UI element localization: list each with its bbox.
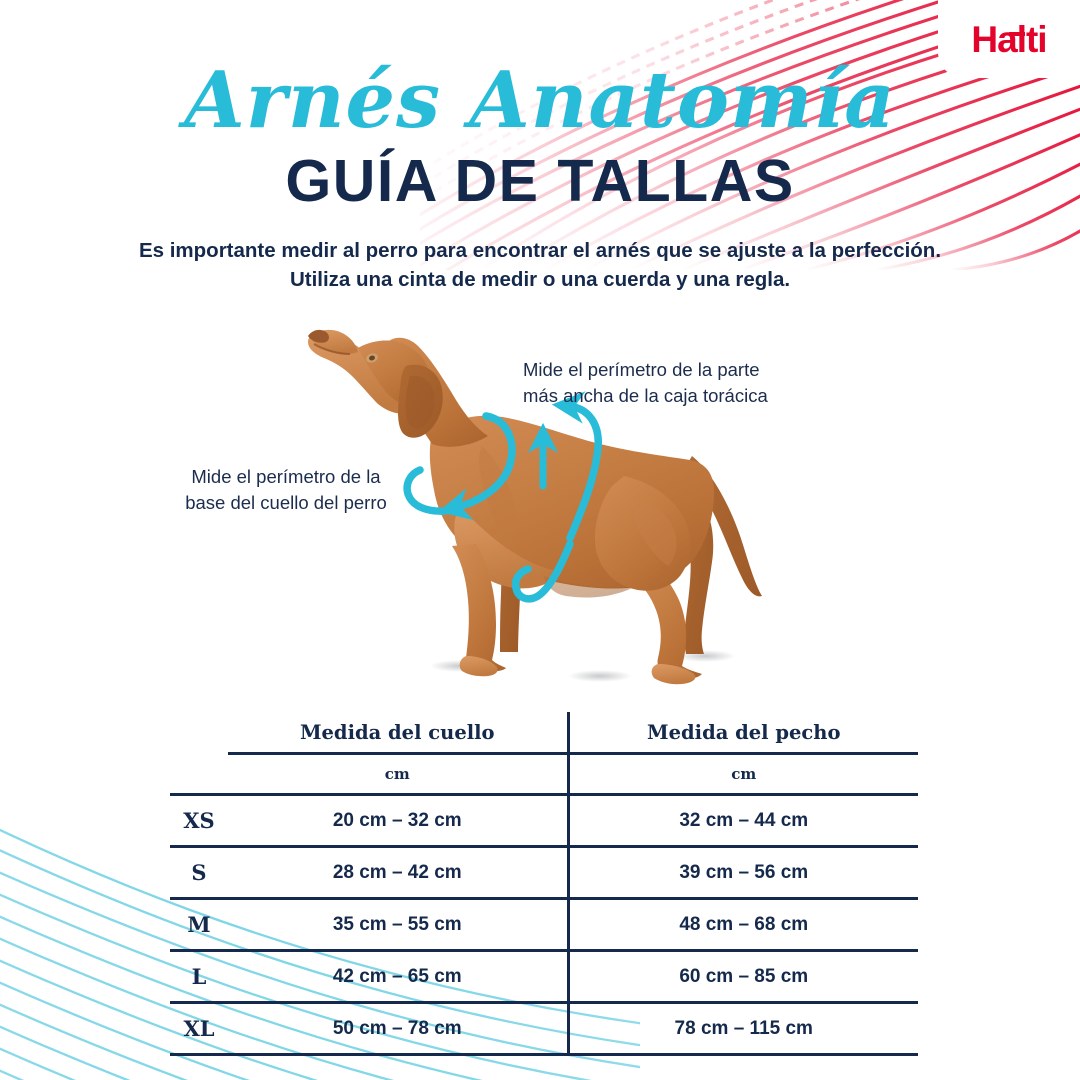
table-group-header-row: Medida del cuello Medida del pecho: [170, 712, 918, 754]
size-chart-table: Medida del cuello Medida del pecho cm cm…: [170, 712, 918, 1056]
unit-header-chest: cm: [568, 754, 918, 795]
halti-t-crossbar: [1009, 32, 1025, 36]
annotation-chest-line-1: Mide el perímetro de la parte: [523, 357, 813, 383]
subtitle: Es importante medir al perro para encont…: [90, 236, 990, 294]
page-title: GUÍA DE TALLAS: [0, 152, 1080, 211]
table-row: XL 50 cm – 78 cm 78 cm – 115 cm: [170, 1003, 918, 1055]
cell-neck: 35 cm – 55 cm: [228, 899, 568, 951]
unit-header-blank: [170, 754, 228, 795]
cell-size: M: [170, 899, 228, 951]
cell-neck: 28 cm – 42 cm: [228, 847, 568, 899]
unit-header-neck: cm: [228, 754, 568, 795]
table-unit-header-row: cm cm: [170, 754, 918, 795]
annotation-chest: Mide el perímetro de la parte más ancha …: [523, 357, 813, 408]
cell-size: XS: [170, 795, 228, 847]
cell-chest: 39 cm – 56 cm: [568, 847, 918, 899]
cell-size: S: [170, 847, 228, 899]
subtitle-line-1: Es importante medir al perro para encont…: [90, 236, 990, 265]
cell-neck: 50 cm – 78 cm: [228, 1003, 568, 1055]
halti-logo: Halti: [938, 0, 1080, 78]
subtitle-line-2: Utiliza una cinta de medir o una cuerda …: [90, 265, 990, 294]
cell-size: XL: [170, 1003, 228, 1055]
cell-neck: 20 cm – 32 cm: [228, 795, 568, 847]
group-header-chest: Medida del pecho: [568, 712, 918, 754]
group-header-blank: [170, 712, 228, 754]
annotation-chest-line-2: más ancha de la caja torácica: [523, 383, 813, 409]
cell-chest: 78 cm – 115 cm: [568, 1003, 918, 1055]
table-row: L 42 cm – 65 cm 60 cm – 85 cm: [170, 951, 918, 1003]
size-guide-infographic: Halti Arnés Anatomía GUÍA DE TALLAS Es i…: [0, 0, 1080, 1080]
annotation-neck: Mide el perímetro de la base del cuello …: [162, 464, 410, 515]
table-row: M 35 cm – 55 cm 48 cm – 68 cm: [170, 899, 918, 951]
annotation-neck-line-2: base del cuello del perro: [162, 490, 410, 516]
annotation-neck-line-1: Mide el perímetro de la: [162, 464, 410, 490]
table-row: XS 20 cm – 32 cm 32 cm – 44 cm: [170, 795, 918, 847]
cell-chest: 60 cm – 85 cm: [568, 951, 918, 1003]
table-row: S 28 cm – 42 cm 39 cm – 56 cm: [170, 847, 918, 899]
halti-wordmark: Halti: [971, 21, 1046, 58]
cell-size: L: [170, 951, 228, 1003]
cell-chest: 32 cm – 44 cm: [568, 795, 918, 847]
cell-neck: 42 cm – 65 cm: [228, 951, 568, 1003]
group-header-neck: Medida del cuello: [228, 712, 568, 754]
cell-chest: 48 cm – 68 cm: [568, 899, 918, 951]
script-title: Arnés Anatomía: [0, 62, 1080, 140]
